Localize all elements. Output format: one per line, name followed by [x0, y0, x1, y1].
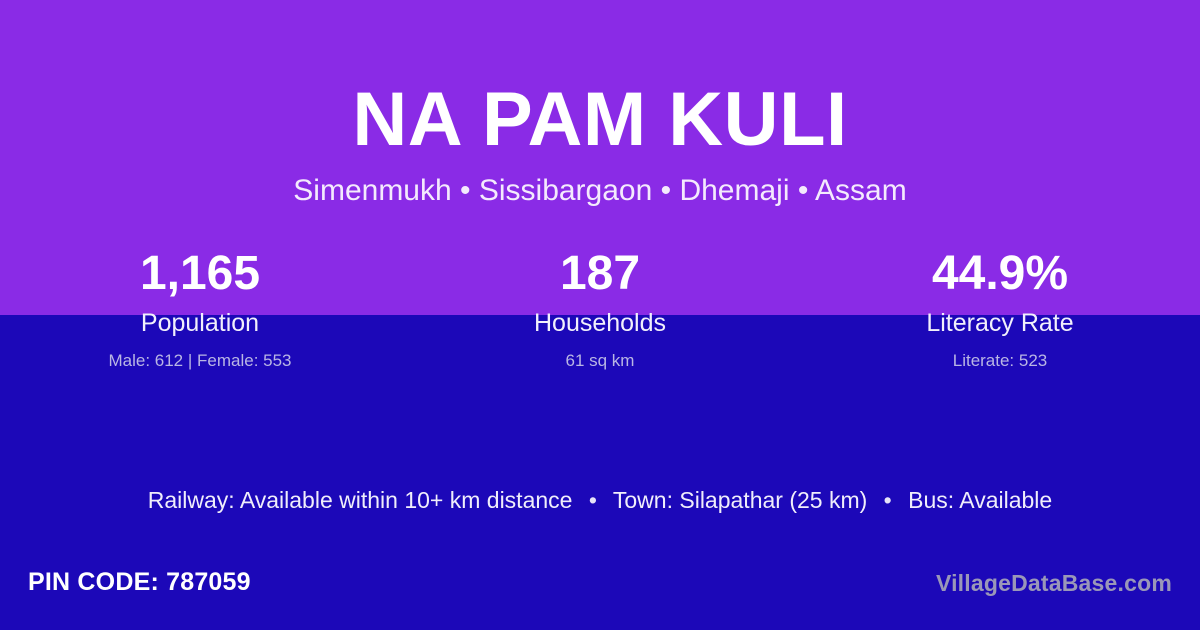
stat-value: 1,165	[0, 248, 400, 300]
stats-row: 1,165 Population Male: 612 | Female: 553…	[0, 248, 1200, 371]
page-title: NA PAM KULI	[0, 0, 1200, 158]
infra-separator-icon: •	[874, 486, 902, 516]
stat-label: Population	[0, 300, 400, 338]
infra-town: Town: Silapathar (25 km)	[613, 487, 867, 513]
stat-sublabel: 61 sq km	[400, 338, 800, 371]
village-info-card: NA PAM KULI Simenmukh • Sissibargaon • D…	[0, 0, 1200, 630]
stat-sublabel: Literate: 523	[800, 338, 1200, 371]
stat-label: Households	[400, 300, 800, 338]
site-brand: VillageDataBase.com	[936, 570, 1172, 597]
pin-code: PIN CODE: 787059	[28, 568, 251, 597]
breadcrumb: Simenmukh • Sissibargaon • Dhemaji • Ass…	[0, 158, 1200, 207]
footer: PIN CODE: 787059 VillageDataBase.com	[0, 560, 1200, 630]
header: NA PAM KULI Simenmukh • Sissibargaon • D…	[0, 0, 1200, 207]
stat-households: 187 Households 61 sq km	[400, 248, 800, 371]
infra-bus: Bus: Available	[908, 487, 1052, 513]
stat-population: 1,165 Population Male: 612 | Female: 553	[0, 248, 400, 371]
infra-separator-icon: •	[579, 486, 607, 516]
infra-railway: Railway: Available within 10+ km distanc…	[148, 487, 573, 513]
stat-label: Literacy Rate	[800, 300, 1200, 338]
stat-value: 44.9%	[800, 248, 1200, 300]
stat-sublabel: Male: 612 | Female: 553	[0, 338, 400, 371]
stat-value: 187	[400, 248, 800, 300]
stat-literacy-rate: 44.9% Literacy Rate Literate: 523	[800, 248, 1200, 371]
infrastructure-row: Railway: Available within 10+ km distanc…	[0, 486, 1200, 516]
